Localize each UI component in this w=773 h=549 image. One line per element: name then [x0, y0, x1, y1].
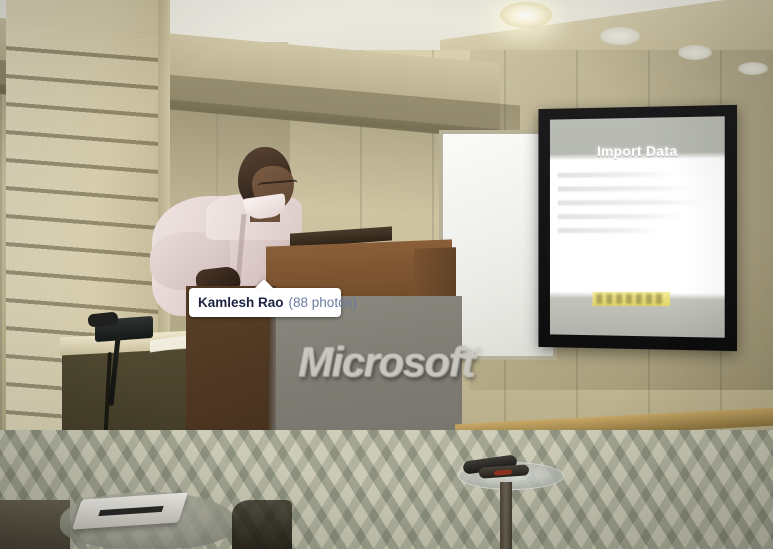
face-tag-photo-count[interactable]: (88 photos) — [289, 295, 357, 310]
slide-bullet — [558, 200, 704, 206]
microsoft-logo: Microsoft ® — [298, 335, 458, 389]
face-tag-name[interactable]: Kamlesh Rao — [198, 295, 284, 310]
downlight-icon — [738, 62, 768, 75]
microsoft-wordmark: Microsoft — [298, 338, 474, 386]
slide-bullet — [558, 214, 684, 219]
downlight-icon — [500, 2, 552, 28]
face-tag-tooltip[interactable]: Kamlesh Rao (88 photos) — [189, 288, 341, 317]
face-tag-pointer — [254, 279, 274, 289]
slide-bullet — [558, 228, 661, 233]
slide-titlebar: Import Data — [554, 141, 723, 161]
registered-trademark-icon: ® — [475, 345, 484, 359]
photo-canvas: Import Data Microsoft ® — [0, 0, 773, 549]
slide-highlight-text — [596, 294, 665, 304]
downlight-icon — [600, 27, 640, 45]
slide-title: Import Data — [597, 143, 677, 159]
slide-body — [558, 167, 721, 293]
slide-bullet — [558, 172, 674, 178]
slide-bullet — [558, 186, 694, 192]
foreground-shadow-right — [232, 500, 292, 549]
glass-table-stem — [500, 482, 512, 549]
downlight-icon — [678, 45, 712, 60]
